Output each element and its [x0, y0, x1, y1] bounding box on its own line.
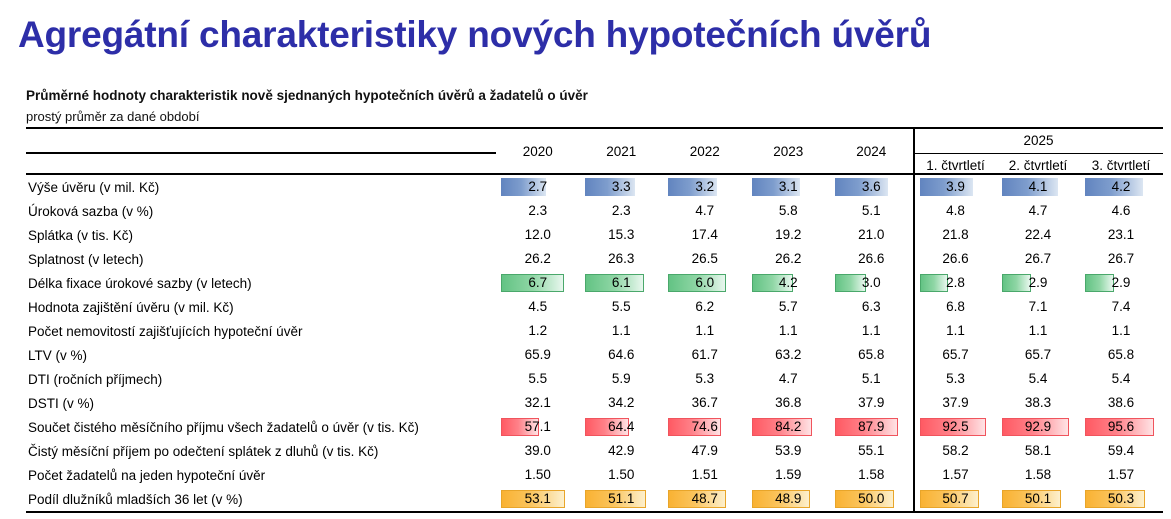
cell-value: 1.51: [663, 466, 747, 484]
cell-value: 34.2: [580, 394, 664, 412]
cell-value: 2.9: [1080, 274, 1163, 292]
table-cell: 65.8: [830, 343, 914, 367]
table-cell: 58.2: [914, 439, 997, 463]
data-bar-cell: 92.5: [915, 418, 997, 436]
data-bar-cell: 3.1: [747, 178, 831, 196]
table-cell: 87.9: [830, 415, 914, 439]
cell-value: 5.4: [1080, 370, 1163, 388]
data-bar-cell: 4.1: [997, 178, 1080, 196]
table-cell: 37.9: [830, 391, 914, 415]
table-cell: 2.9: [1080, 271, 1163, 295]
cell-value: 6.0: [663, 274, 747, 292]
cell-value: 26.7: [1080, 250, 1163, 268]
row-label: Úroková sazba (v %): [26, 199, 496, 223]
data-table-container: 2020 2021 2022 2023 2024 2025 1. čtvrtle…: [26, 127, 1150, 513]
header-quarter-3: 3. čtvrtletí: [1080, 153, 1163, 174]
row-label: Počet žadatelů na jeden hypoteční úvěr: [26, 463, 496, 487]
cell-value: 1.1: [997, 322, 1080, 340]
table-cell: 1.51: [663, 463, 747, 487]
cell-value: 4.7: [747, 370, 831, 388]
data-bar-cell: 92.9: [997, 418, 1080, 436]
data-bar-cell: 51.1: [580, 490, 664, 508]
table-cell: 6.0: [663, 271, 747, 295]
cell-value: 65.9: [496, 346, 580, 364]
table-row: Splátka (v tis. Kč)12.015.317.419.221.02…: [26, 223, 1163, 247]
table-cell: 6.8: [914, 295, 997, 319]
table-cell: 1.1: [747, 319, 831, 343]
table-cell: 1.59: [747, 463, 831, 487]
table-cell: 6.1: [580, 271, 664, 295]
table-cell: 1.1: [914, 319, 997, 343]
table-cell: 50.0: [830, 487, 914, 512]
data-bar-cell: 2.9: [1080, 274, 1163, 292]
table-cell: 5.9: [580, 367, 664, 391]
subtitle-primary: Průměrné hodnoty charakteristik nově sje…: [26, 88, 588, 103]
cell-value: 26.3: [580, 250, 664, 268]
table-cell: 65.7: [914, 343, 997, 367]
cell-value: 5.7: [747, 298, 831, 316]
table-cell: 3.3: [580, 174, 664, 199]
data-bar-cell: 3.2: [663, 178, 747, 196]
table-cell: 1.58: [997, 463, 1080, 487]
cell-value: 1.57: [1080, 466, 1163, 484]
table-cell: 7.4: [1080, 295, 1163, 319]
cell-value: 26.6: [830, 250, 913, 268]
table-cell: 39.0: [496, 439, 580, 463]
cell-value: 42.9: [580, 442, 664, 460]
row-label: Čistý měsíční příjem po odečtení splátek…: [26, 439, 496, 463]
table-header: 2020 2021 2022 2023 2024 2025 1. čtvrtle…: [26, 128, 1163, 174]
table-cell: 26.7: [997, 247, 1080, 271]
cell-value: 26.7: [997, 250, 1080, 268]
data-bar-cell: 48.9: [747, 490, 831, 508]
table-cell: 4.2: [747, 271, 831, 295]
cell-value: 36.7: [663, 394, 747, 412]
row-label: Délka fixace úrokové sazby (v letech): [26, 271, 496, 295]
cell-value: 26.5: [663, 250, 747, 268]
table-cell: 57.1: [496, 415, 580, 439]
table-cell: 4.8: [914, 199, 997, 223]
table-row: Hodnota zajištění úvěru (v mil. Kč)4.55.…: [26, 295, 1163, 319]
table-cell: 36.8: [747, 391, 831, 415]
table-cell: 5.3: [663, 367, 747, 391]
cell-value: 37.9: [830, 394, 913, 412]
table-cell: 4.1: [997, 174, 1080, 199]
cell-value: 59.4: [1080, 442, 1163, 460]
table-cell: 58.1: [997, 439, 1080, 463]
cell-value: 3.0: [830, 274, 913, 292]
cell-value: 12.0: [496, 226, 580, 244]
header-year-2024: 2024: [830, 128, 914, 174]
cell-value: 4.6: [1080, 202, 1163, 220]
characteristics-table: 2020 2021 2022 2023 2024 2025 1. čtvrtle…: [26, 127, 1163, 513]
table-cell: 26.2: [496, 247, 580, 271]
header-year-2023: 2023: [747, 128, 831, 174]
table-cell: 50.7: [914, 487, 997, 512]
cell-value: 5.5: [580, 298, 664, 316]
data-bar-cell: 3.6: [830, 178, 913, 196]
row-label: DSTI (v %): [26, 391, 496, 415]
table-cell: 17.4: [663, 223, 747, 247]
cell-value: 5.4: [997, 370, 1080, 388]
table-cell: 26.3: [580, 247, 664, 271]
cell-value: 50.3: [1080, 490, 1163, 508]
table-cell: 64.4: [580, 415, 664, 439]
data-bar-cell: 50.3: [1080, 490, 1163, 508]
table-cell: 1.57: [1080, 463, 1163, 487]
cell-value: 4.1: [997, 178, 1080, 196]
cell-value: 92.5: [915, 418, 997, 436]
data-bar-cell: 87.9: [830, 418, 913, 436]
table-cell: 50.1: [997, 487, 1080, 512]
cell-value: 53.1: [496, 490, 580, 508]
table-cell: 59.4: [1080, 439, 1163, 463]
data-bar-cell: 2.7: [496, 178, 580, 196]
table-cell: 1.58: [830, 463, 914, 487]
table-cell: 38.6: [1080, 391, 1163, 415]
cell-value: 1.50: [496, 466, 580, 484]
data-bar-cell: 2.9: [997, 274, 1080, 292]
cell-value: 57.1: [496, 418, 580, 436]
cell-value: 26.2: [496, 250, 580, 268]
cell-value: 6.7: [496, 274, 580, 292]
header-year-2022: 2022: [663, 128, 747, 174]
report-page: Agregátní charakteristiky nových hypoteč…: [0, 0, 1171, 519]
cell-value: 64.4: [580, 418, 664, 436]
row-label: Splatnost (v letech): [26, 247, 496, 271]
row-label: Součet čistého měsíčního příjmu všech ža…: [26, 415, 496, 439]
table-cell: 65.9: [496, 343, 580, 367]
table-cell: 74.6: [663, 415, 747, 439]
cell-value: 38.6: [1080, 394, 1163, 412]
table-cell: 4.2: [1080, 174, 1163, 199]
cell-value: 65.8: [1080, 346, 1163, 364]
table-cell: 6.7: [496, 271, 580, 295]
table-cell: 19.2: [747, 223, 831, 247]
table-cell: 32.1: [496, 391, 580, 415]
cell-value: 3.3: [580, 178, 664, 196]
table-cell: 1.50: [496, 463, 580, 487]
cell-value: 21.0: [830, 226, 913, 244]
data-bar-cell: 48.7: [663, 490, 747, 508]
data-bar-cell: 50.1: [997, 490, 1080, 508]
cell-value: 1.50: [580, 466, 664, 484]
table-body: Výše úvěru (v mil. Kč)2.73.33.23.13.63.9…: [26, 174, 1163, 512]
cell-value: 95.6: [1080, 418, 1163, 436]
row-label: Podíl dlužníků mladších 36 let (v %): [26, 487, 496, 512]
cell-value: 3.2: [663, 178, 747, 196]
cell-value: 2.3: [496, 202, 580, 220]
table-cell: 12.0: [496, 223, 580, 247]
cell-value: 1.1: [1080, 322, 1163, 340]
header-year-2021: 2021: [580, 128, 664, 174]
table-cell: 5.5: [580, 295, 664, 319]
table-cell: 5.4: [1080, 367, 1163, 391]
data-bar-cell: 4.2: [747, 274, 831, 292]
table-cell: 65.7: [997, 343, 1080, 367]
table-row: DSTI (v %)32.134.236.736.837.937.938.338…: [26, 391, 1163, 415]
cell-value: 64.6: [580, 346, 664, 364]
cell-value: 2.9: [997, 274, 1080, 292]
table-cell: 21.0: [830, 223, 914, 247]
table-cell: 63.2: [747, 343, 831, 367]
cell-value: 1.1: [663, 322, 747, 340]
header-quarter-2: 2. čtvrtletí: [997, 153, 1080, 174]
table-cell: 5.1: [830, 367, 914, 391]
table-row: Výše úvěru (v mil. Kč)2.73.33.23.13.63.9…: [26, 174, 1163, 199]
cell-value: 36.8: [747, 394, 831, 412]
table-cell: 1.1: [997, 319, 1080, 343]
data-bar-cell: 3.3: [580, 178, 664, 196]
table-cell: 51.1: [580, 487, 664, 512]
table-cell: 2.8: [914, 271, 997, 295]
table-cell: 1.2: [496, 319, 580, 343]
row-label: Výše úvěru (v mil. Kč): [26, 174, 496, 199]
cell-value: 63.2: [747, 346, 831, 364]
data-bar-cell: 2.8: [915, 274, 997, 292]
cell-value: 4.5: [496, 298, 580, 316]
table-cell: 92.5: [914, 415, 997, 439]
cell-value: 92.9: [997, 418, 1080, 436]
header-row-years: 2020 2021 2022 2023 2024 2025: [26, 128, 1163, 153]
cell-value: 2.7: [496, 178, 580, 196]
header-year-2020: 2020: [496, 128, 580, 174]
cell-value: 4.7: [663, 202, 747, 220]
data-bar-cell: 57.1: [496, 418, 580, 436]
table-cell: 3.1: [747, 174, 831, 199]
table-cell: 26.2: [747, 247, 831, 271]
table-row: Úroková sazba (v %)2.32.34.75.85.14.84.7…: [26, 199, 1163, 223]
data-bar-cell: 50.7: [915, 490, 997, 508]
table-cell: 26.6: [914, 247, 997, 271]
table-cell: 34.2: [580, 391, 664, 415]
cell-value: 1.58: [997, 466, 1080, 484]
cell-value: 1.58: [830, 466, 913, 484]
table-cell: 4.7: [747, 367, 831, 391]
data-bar-cell: 6.0: [663, 274, 747, 292]
cell-value: 3.9: [915, 178, 997, 196]
header-blank-corner-2: [26, 153, 496, 174]
table-cell: 38.3: [997, 391, 1080, 415]
table-row: Součet čistého měsíčního příjmu všech ža…: [26, 415, 1163, 439]
cell-value: 26.2: [747, 250, 831, 268]
cell-value: 58.2: [915, 442, 997, 460]
cell-value: 3.6: [830, 178, 913, 196]
data-bar-cell: 84.2: [747, 418, 831, 436]
table-cell: 36.7: [663, 391, 747, 415]
cell-value: 50.7: [915, 490, 997, 508]
cell-value: 74.6: [663, 418, 747, 436]
cell-value: 21.8: [915, 226, 997, 244]
table-cell: 64.6: [580, 343, 664, 367]
table-cell: 1.1: [663, 319, 747, 343]
table-cell: 84.2: [747, 415, 831, 439]
table-row: Splatnost (v letech)26.226.326.526.226.6…: [26, 247, 1163, 271]
table-cell: 61.7: [663, 343, 747, 367]
table-cell: 1.1: [830, 319, 914, 343]
data-bar-cell: 74.6: [663, 418, 747, 436]
cell-value: 2.8: [915, 274, 997, 292]
cell-value: 1.1: [747, 322, 831, 340]
cell-value: 58.1: [997, 442, 1080, 460]
table-cell: 26.7: [1080, 247, 1163, 271]
cell-value: 48.9: [747, 490, 831, 508]
cell-value: 4.7: [997, 202, 1080, 220]
table-cell: 5.3: [914, 367, 997, 391]
cell-value: 1.1: [830, 322, 913, 340]
subtitle-secondary: prostý průměr za dané období: [26, 109, 199, 124]
table-cell: 4.7: [997, 199, 1080, 223]
cell-value: 4.8: [915, 202, 997, 220]
cell-value: 38.3: [997, 394, 1080, 412]
table-cell: 2.7: [496, 174, 580, 199]
row-label: Hodnota zajištění úvěru (v mil. Kč): [26, 295, 496, 319]
table-cell: 5.5: [496, 367, 580, 391]
table-cell: 4.6: [1080, 199, 1163, 223]
header-quarter-1: 1. čtvrtletí: [914, 153, 997, 174]
cell-value: 1.1: [580, 322, 664, 340]
table-cell: 92.9: [997, 415, 1080, 439]
cell-value: 50.0: [830, 490, 913, 508]
table-cell: 5.7: [747, 295, 831, 319]
cell-value: 19.2: [747, 226, 831, 244]
table-cell: 26.6: [830, 247, 914, 271]
table-cell: 3.2: [663, 174, 747, 199]
cell-value: 7.4: [1080, 298, 1163, 316]
row-label: LTV (v %): [26, 343, 496, 367]
data-bar-cell: 95.6: [1080, 418, 1163, 436]
table-cell: 47.9: [663, 439, 747, 463]
table-row: LTV (v %)65.964.661.763.265.865.765.765.…: [26, 343, 1163, 367]
table-cell: 4.7: [663, 199, 747, 223]
table-cell: 5.8: [747, 199, 831, 223]
cell-value: 1.59: [747, 466, 831, 484]
cell-value: 61.7: [663, 346, 747, 364]
cell-value: 22.4: [997, 226, 1080, 244]
table-row: Počet žadatelů na jeden hypoteční úvěr1.…: [26, 463, 1163, 487]
cell-value: 1.1: [915, 322, 997, 340]
data-bar-cell: 53.1: [496, 490, 580, 508]
cell-value: 50.1: [997, 490, 1080, 508]
table-cell: 23.1: [1080, 223, 1163, 247]
table-cell: 26.5: [663, 247, 747, 271]
data-bar-cell: 50.0: [830, 490, 913, 508]
table-cell: 65.8: [1080, 343, 1163, 367]
table-cell: 55.1: [830, 439, 914, 463]
cell-value: 5.1: [830, 370, 913, 388]
data-bar-cell: 6.1: [580, 274, 664, 292]
row-label: DTI (ročních příjmech): [26, 367, 496, 391]
cell-value: 5.3: [663, 370, 747, 388]
table-row: Čistý měsíční příjem po odečtení splátek…: [26, 439, 1163, 463]
table-cell: 48.9: [747, 487, 831, 512]
cell-value: 1.57: [915, 466, 997, 484]
table-cell: 22.4: [997, 223, 1080, 247]
table-cell: 2.3: [580, 199, 664, 223]
cell-value: 6.3: [830, 298, 913, 316]
table-cell: 5.4: [997, 367, 1080, 391]
table-cell: 48.7: [663, 487, 747, 512]
table-cell: 6.2: [663, 295, 747, 319]
table-row: Podíl dlužníků mladších 36 let (v %)53.1…: [26, 487, 1163, 512]
cell-value: 5.5: [496, 370, 580, 388]
table-cell: 1.57: [914, 463, 997, 487]
cell-value: 5.1: [830, 202, 913, 220]
table-cell: 42.9: [580, 439, 664, 463]
table-cell: 2.9: [997, 271, 1080, 295]
table-cell: 1.1: [580, 319, 664, 343]
cell-value: 87.9: [830, 418, 913, 436]
table-cell: 5.1: [830, 199, 914, 223]
table-cell: 50.3: [1080, 487, 1163, 512]
cell-value: 4.2: [747, 274, 831, 292]
table-cell: 1.1: [1080, 319, 1163, 343]
cell-value: 1.2: [496, 322, 580, 340]
header-blank-corner: [26, 128, 496, 153]
header-year-group-2025: 2025: [914, 128, 1163, 153]
cell-value: 47.9: [663, 442, 747, 460]
row-label: Počet nemovitostí zajišťujících hypotečn…: [26, 319, 496, 343]
table-cell: 53.1: [496, 487, 580, 512]
cell-value: 5.9: [580, 370, 664, 388]
cell-value: 4.2: [1080, 178, 1163, 196]
cell-value: 65.7: [915, 346, 997, 364]
cell-value: 65.8: [830, 346, 913, 364]
table-row: DTI (ročních příjmech)5.55.95.34.75.15.3…: [26, 367, 1163, 391]
table-cell: 3.9: [914, 174, 997, 199]
table-cell: 2.3: [496, 199, 580, 223]
table-cell: 95.6: [1080, 415, 1163, 439]
cell-value: 65.7: [997, 346, 1080, 364]
cell-value: 15.3: [580, 226, 664, 244]
cell-value: 23.1: [1080, 226, 1163, 244]
table-row: Délka fixace úrokové sazby (v letech)6.7…: [26, 271, 1163, 295]
table-cell: 7.1: [997, 295, 1080, 319]
table-cell: 6.3: [830, 295, 914, 319]
cell-value: 48.7: [663, 490, 747, 508]
row-label: Splátka (v tis. Kč): [26, 223, 496, 247]
cell-value: 55.1: [830, 442, 913, 460]
cell-value: 39.0: [496, 442, 580, 460]
cell-value: 37.9: [915, 394, 997, 412]
cell-value: 6.2: [663, 298, 747, 316]
cell-value: 53.9: [747, 442, 831, 460]
table-cell: 53.9: [747, 439, 831, 463]
cell-value: 5.3: [915, 370, 997, 388]
data-bar-cell: 6.7: [496, 274, 580, 292]
cell-value: 5.8: [747, 202, 831, 220]
data-bar-cell: 64.4: [580, 418, 664, 436]
cell-value: 6.8: [915, 298, 997, 316]
data-bar-cell: 4.2: [1080, 178, 1163, 196]
cell-value: 6.1: [580, 274, 664, 292]
data-bar-cell: 3.9: [915, 178, 997, 196]
table-cell: 3.6: [830, 174, 914, 199]
table-cell: 15.3: [580, 223, 664, 247]
page-title: Agregátní charakteristiky nových hypoteč…: [18, 14, 931, 56]
table-cell: 1.50: [580, 463, 664, 487]
data-bar-cell: 3.0: [830, 274, 913, 292]
table-cell: 3.0: [830, 271, 914, 295]
cell-value: 26.6: [915, 250, 997, 268]
cell-value: 32.1: [496, 394, 580, 412]
table-cell: 21.8: [914, 223, 997, 247]
cell-value: 7.1: [997, 298, 1080, 316]
table-cell: 37.9: [914, 391, 997, 415]
table-cell: 4.5: [496, 295, 580, 319]
cell-value: 84.2: [747, 418, 831, 436]
cell-value: 2.3: [580, 202, 664, 220]
